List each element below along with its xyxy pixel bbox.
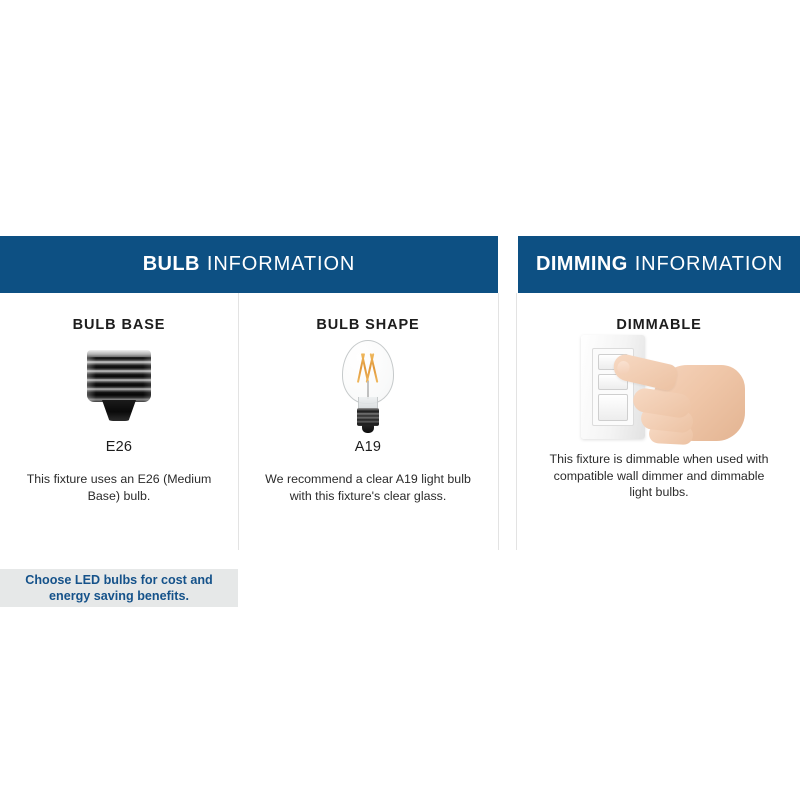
- e26-screw-base-icon: [0, 339, 238, 435]
- dimming-information-header: DIMMING INFORMATION: [518, 236, 800, 293]
- a19-screw-base: [357, 408, 379, 426]
- a19-bulb-icon: [238, 339, 498, 435]
- dimming-header-light: INFORMATION: [635, 253, 783, 276]
- dimmable-title: DIMMABLE: [518, 317, 800, 333]
- bulb-header-strong: BULB: [143, 253, 200, 276]
- a19-base-tip: [362, 425, 374, 433]
- bulb-shape-title: BULB SHAPE: [238, 317, 498, 333]
- bulb-information-header: BULB INFORMATION: [0, 236, 498, 293]
- e26-collar: [87, 350, 151, 357]
- dimming-header-strong: DIMMING: [536, 253, 628, 276]
- bulb-header-light: INFORMATION: [207, 253, 355, 276]
- bulb-base-title: BULB BASE: [0, 317, 238, 333]
- bulb-base-column: BULB BASE E26 This fixture uses an E26 (…: [0, 293, 238, 551]
- hand-pressing-wall-dimmer-switch-image: [569, 335, 749, 439]
- bulb-base-caption: E26: [0, 439, 238, 455]
- bulb-base-description: This fixture uses an E26 (Medium Base) b…: [12, 471, 227, 504]
- dimmer-switch-icon: [518, 339, 800, 435]
- fingernail: [616, 360, 631, 375]
- hand-index-finger: [611, 352, 679, 392]
- bulb-shape-caption: A19: [238, 439, 498, 455]
- e26-tip: [102, 400, 136, 421]
- dimming-information-panel: DIMMING INFORMATION DIMMABLE: [518, 236, 800, 551]
- dimmable-column: DIMMABLE: [518, 293, 800, 551]
- panel-gap-divider-left: [498, 293, 499, 550]
- dimming-panel-body: DIMMABLE: [518, 293, 800, 551]
- dimmable-description: This fixture is dimmable when used with …: [543, 451, 775, 501]
- panel-gap-divider-right: [516, 293, 517, 550]
- led-recommendation-callout: Choose LED bulbs for cost and energy sav…: [0, 569, 238, 607]
- e26-threaded-body: [87, 352, 151, 402]
- bulb-shape-description: We recommend a clear A19 light bulb with…: [257, 471, 479, 504]
- bulb-information-panel: BULB INFORMATION BULB BASE E26 This fixt…: [0, 236, 498, 551]
- bulb-panel-body: BULB BASE E26 This fixture uses an E26 (…: [0, 293, 498, 551]
- hand-illustration: [613, 351, 745, 447]
- e26-screw-base-image: [83, 350, 155, 424]
- a19-clear-filament-bulb-image: [336, 340, 400, 434]
- bulb-shape-column: BULB SHAPE A19 We recommend a clear A19 …: [238, 293, 498, 551]
- led-recommendation-text: Choose LED bulbs for cost and energy sav…: [14, 572, 224, 604]
